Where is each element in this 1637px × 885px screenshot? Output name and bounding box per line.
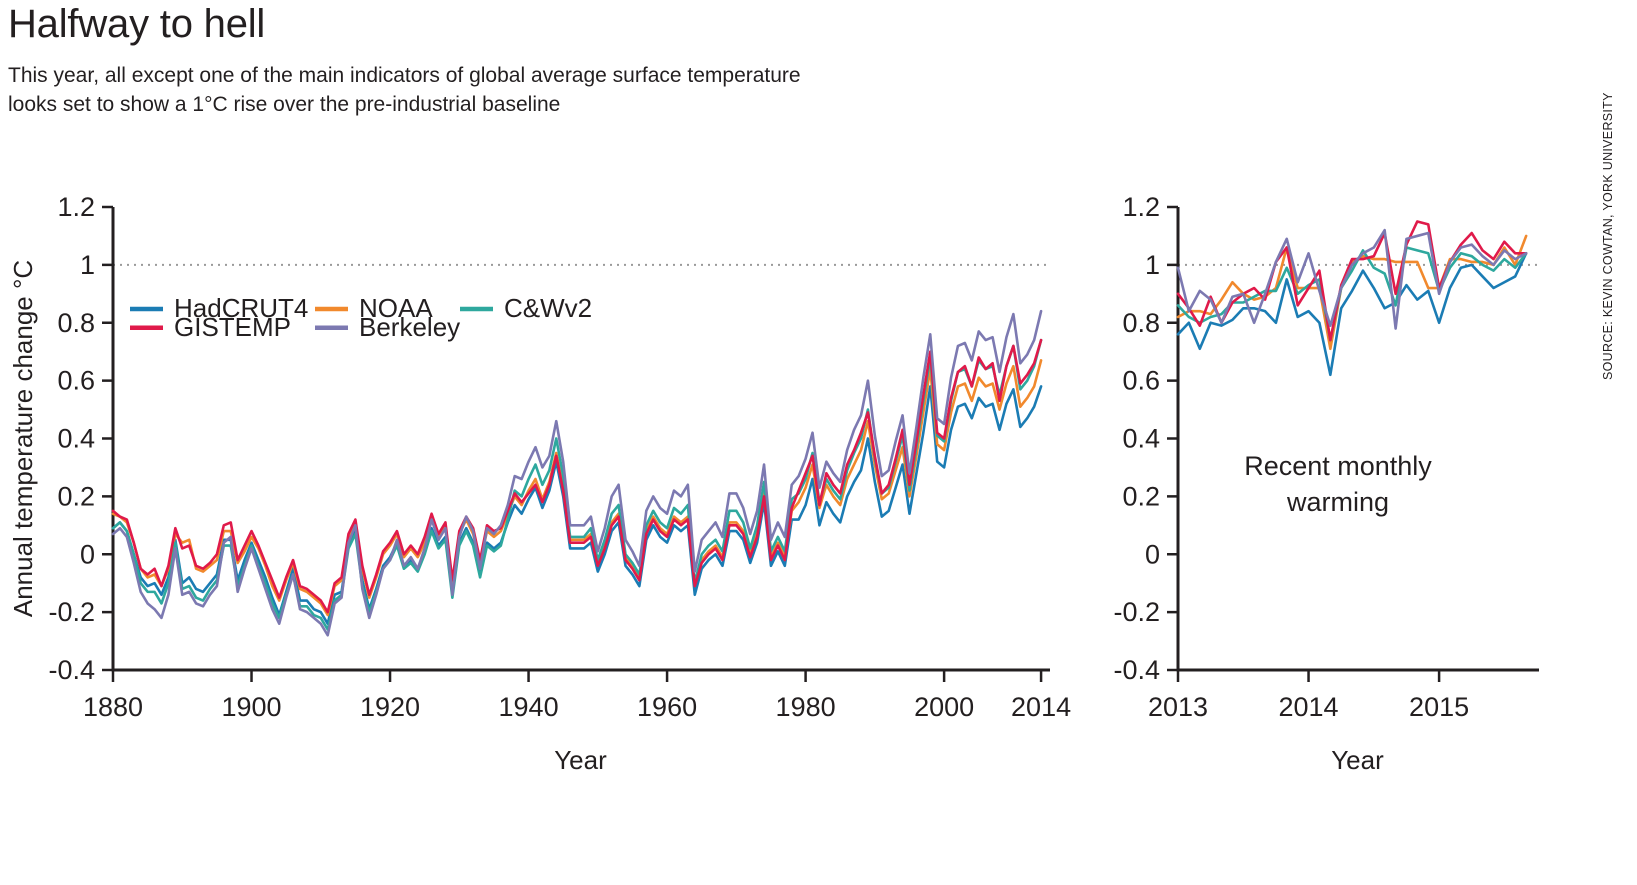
panel-note-line-2: warming <box>1286 487 1389 517</box>
legend-label-berkeley: Berkeley <box>359 312 460 342</box>
y-tick-label: 0.4 <box>1122 424 1160 454</box>
y-tick-label: 1 <box>1145 250 1160 280</box>
y-tick-label: 1.2 <box>57 192 95 222</box>
legend-label-gistemp: GISTEMP <box>174 312 291 342</box>
y-tick-label: 0.4 <box>57 424 95 454</box>
y-tick-label: 0.6 <box>57 366 95 396</box>
y-tick-label: 0 <box>1145 539 1160 569</box>
series-line-c-wv2 <box>113 340 1041 629</box>
series-line-berkeley <box>113 311 1041 635</box>
y-tick-label: 1.2 <box>1122 192 1160 222</box>
series-line-noaa <box>113 360 1041 615</box>
panel-recent-monthly: -0.4-0.200.20.40.60.811.2201320142015Yea… <box>1113 192 1539 775</box>
x-tick-label: 1960 <box>637 692 697 722</box>
y-tick-label: 0.8 <box>57 308 95 338</box>
chart-svg: -0.4-0.200.20.40.60.811.2188019001920194… <box>0 150 1637 885</box>
y-tick-label: -0.2 <box>1113 597 1160 627</box>
y-axis-title: Annual temperature change °C <box>8 260 38 617</box>
x-tick-label: 2014 <box>1279 692 1339 722</box>
panel-note-line-1: Recent monthly <box>1244 451 1432 481</box>
x-tick-label: 2013 <box>1148 692 1208 722</box>
page-subtitle: This year, all except one of the main in… <box>8 62 1068 120</box>
x-tick-label: 1900 <box>221 692 281 722</box>
y-tick-label: -0.2 <box>48 597 95 627</box>
x-tick-label: 2000 <box>914 692 974 722</box>
y-tick-label: 0.2 <box>1122 481 1160 511</box>
y-tick-label: -0.4 <box>1113 655 1160 685</box>
x-tick-label: 2014 <box>1011 692 1071 722</box>
series-line-berkeley <box>1178 230 1526 328</box>
source-credit-wrapper: SOURCE: KEVIN COWTAN, YORK UNIVERSITY <box>1601 80 1621 380</box>
y-tick-label: 1 <box>80 250 95 280</box>
legend-label-cwv2: C&Wv2 <box>504 293 592 323</box>
legend-item[interactable]: C&Wv2 <box>460 293 592 323</box>
y-tick-label: 0.8 <box>1122 308 1160 338</box>
subtitle-line-2: looks set to show a 1°C rise over the pr… <box>8 91 1068 120</box>
legend: HadCRUT4NOAAC&Wv2GISTEMPBerkeley <box>130 293 592 342</box>
x-tick-label: 1980 <box>776 692 836 722</box>
source-credit: SOURCE: KEVIN COWTAN, YORK UNIVERSITY <box>1601 80 1615 380</box>
subtitle-line-1: This year, all except one of the main in… <box>8 62 1068 91</box>
legend-item[interactable]: Berkeley <box>315 312 460 342</box>
chart-area: -0.4-0.200.20.40.60.811.2188019001920194… <box>0 150 1637 885</box>
x-tick-label: 1880 <box>83 692 143 722</box>
panel-annual: -0.4-0.200.20.40.60.811.2188019001920194… <box>8 192 1071 775</box>
x-axis-title: Year <box>554 745 607 775</box>
legend-item[interactable]: GISTEMP <box>130 312 291 342</box>
x-tick-label: 1940 <box>499 692 559 722</box>
x-axis-title: Year <box>1331 745 1384 775</box>
axis-lines <box>113 207 1050 670</box>
x-tick-label: 1920 <box>360 692 420 722</box>
y-tick-label: 0 <box>80 539 95 569</box>
page-title: Halfway to hell <box>8 2 1108 47</box>
series-line-gistemp <box>113 340 1041 612</box>
y-tick-label: 0.2 <box>57 481 95 511</box>
x-tick-label: 2015 <box>1409 692 1469 722</box>
y-tick-label: -0.4 <box>48 655 95 685</box>
y-tick-label: 0.6 <box>1122 366 1160 396</box>
